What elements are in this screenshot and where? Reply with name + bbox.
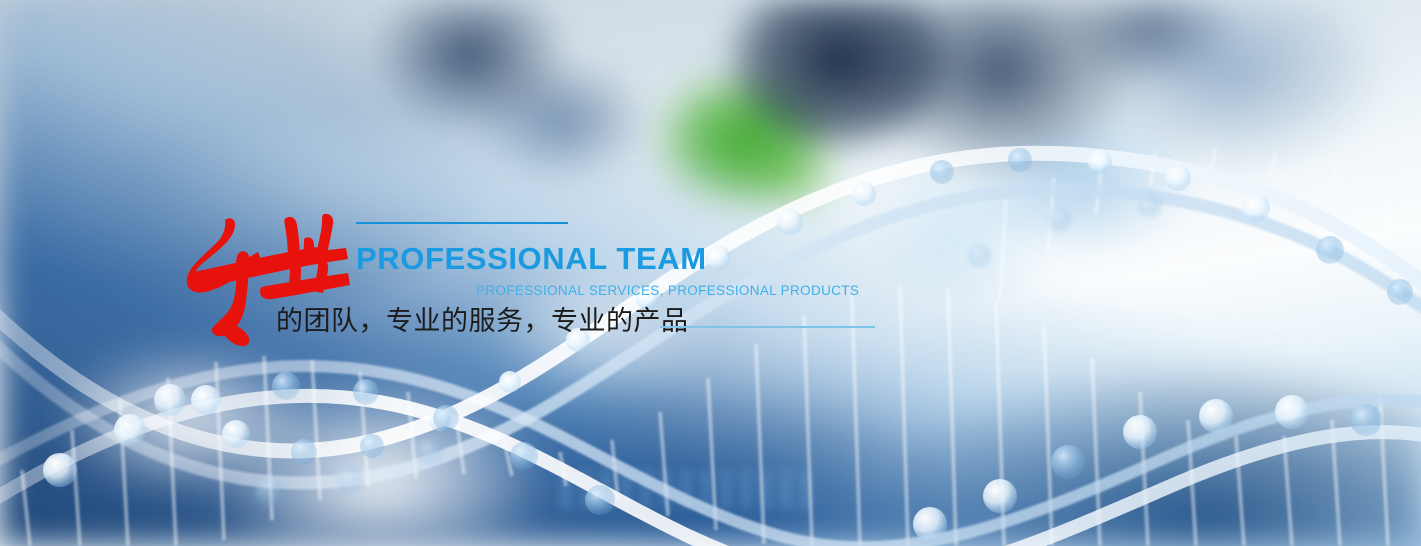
banner-content: PROFESSIONAL TEAM PROFESSIONAL SERVICES,…	[0, 0, 1421, 546]
chinese-tagline: 的团队，专业的服务，专业的产品	[276, 305, 689, 339]
decorative-rule-bottom	[660, 326, 875, 328]
decorative-rule-top	[356, 222, 568, 224]
page-title: PROFESSIONAL TEAM	[356, 243, 707, 274]
professional-team-banner: PROFESSIONAL TEAM PROFESSIONAL SERVICES,…	[0, 0, 1421, 546]
page-subtitle: PROFESSIONAL SERVICES, PROFESSIONAL PROD…	[476, 284, 859, 298]
